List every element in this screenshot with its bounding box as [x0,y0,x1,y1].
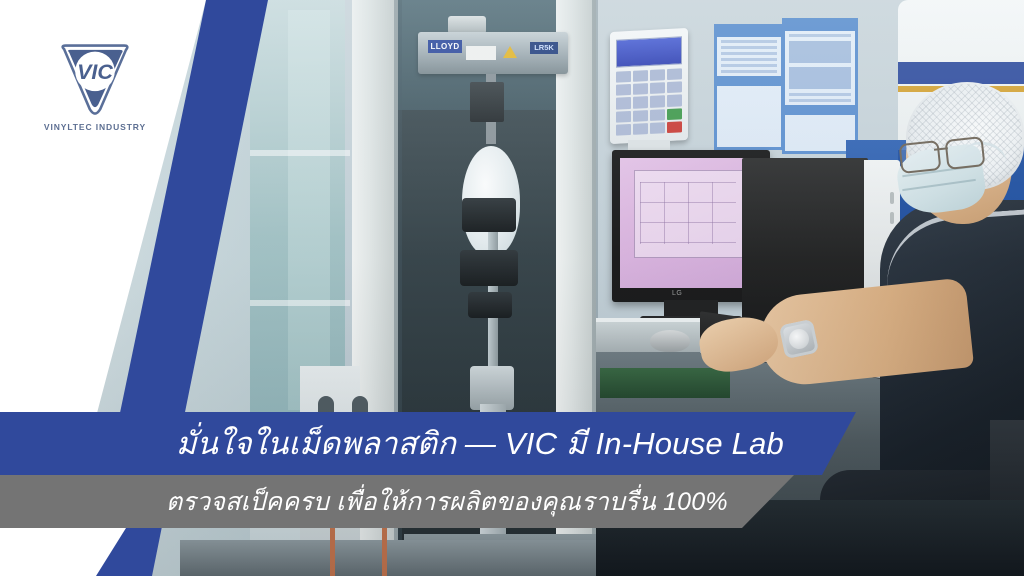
company-name-label: VINYLTEC INDUSTRY [40,122,150,132]
brand-logo: VIC VINYLTEC INDUSTRY [40,42,150,142]
headline-text: มั่นใจในเม็ดพลาสติก — VIC มี In-House La… [176,418,876,470]
vic-triangle-logo-icon: VIC [52,42,138,118]
subheadline-text: ตรวจสเป็คครบ เพื่อให้การผลิตของคุณราบรื่… [166,480,846,524]
banner-canvas: LLOYD LR5K [0,0,1024,576]
logo-initials-text: VIC [77,60,113,84]
